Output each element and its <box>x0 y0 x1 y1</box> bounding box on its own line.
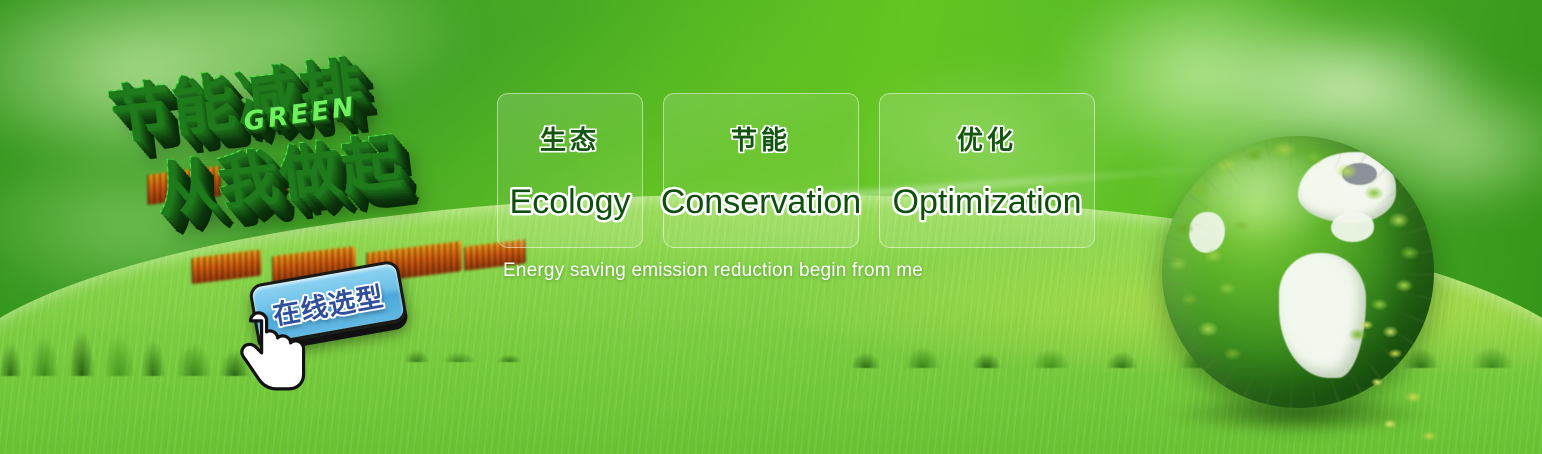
feature-card-en-label: Optimization <box>893 183 1082 222</box>
continent-land-mass <box>1189 212 1224 253</box>
feature-card-list: 生态 Ecology 节能 Conservation 优化 Optimizati… <box>497 93 1095 248</box>
feature-card-optimization[interactable]: 优化 Optimization <box>879 93 1095 248</box>
feature-card-en-label: Conservation <box>661 183 861 222</box>
feature-card-cn-label: 节能 <box>731 120 791 157</box>
continent-south-america <box>1279 253 1366 378</box>
headline-3d-graphic: 节能减排 从我做起 GREEN <box>87 14 512 291</box>
online-selection-label: 在线选型 <box>269 274 386 332</box>
continent-shadow-patch <box>1342 163 1377 185</box>
eco-promo-banner: 节能减排 从我做起 GREEN 在线选型 生态 Ecology 节能 Conse… <box>0 0 1542 454</box>
banner-subtitle: Energy saving emission reduction begin f… <box>503 260 923 282</box>
leafy-earth-globe-icon <box>1148 128 1448 428</box>
feature-card-cn-label: 优化 <box>957 120 1017 157</box>
globe-sphere <box>1162 136 1434 408</box>
continent-land-mass <box>1331 212 1375 242</box>
feature-card-en-label: Ecology <box>510 183 631 222</box>
feature-card-conservation[interactable]: 节能 Conservation <box>663 93 859 248</box>
feature-card-cn-label: 生态 <box>540 120 600 157</box>
feature-card-ecology[interactable]: 生态 Ecology <box>497 93 643 248</box>
